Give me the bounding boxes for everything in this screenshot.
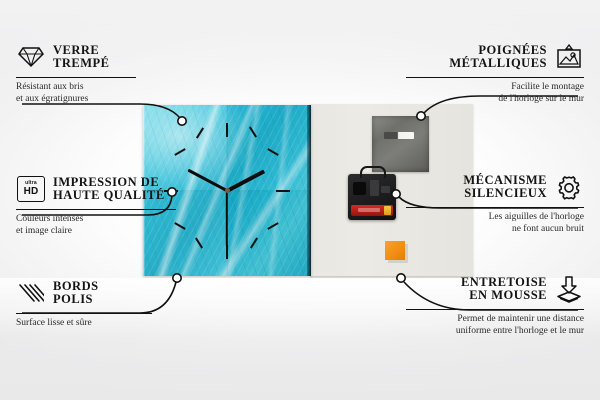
clock-tick	[276, 190, 290, 192]
feature-description: Facilite le montagede l'horloge sur le m…	[406, 82, 584, 105]
feature-description: Les aiguilles de l'horlogene font aucun …	[406, 212, 584, 235]
hands-center-cap	[225, 188, 230, 193]
feature-title: MÉCANISMESILENCIEUX	[463, 174, 547, 201]
clock-movement	[348, 174, 396, 220]
feature-divider	[406, 309, 584, 310]
arrow-stack-icon	[554, 275, 584, 303]
feature-description: Résistant aux briset aux égratignures	[16, 82, 194, 105]
feature-impression-haute-qualite: ultra HD IMPRESSION DEHAUTE QUALITÉ Coul…	[16, 172, 194, 237]
feature-header: ultra HD IMPRESSION DEHAUTE QUALITÉ	[16, 172, 194, 206]
feature-header: ENTRETOISEEN MOUSSE	[406, 272, 584, 306]
feature-header: BORDSPOLIS	[16, 276, 194, 310]
feature-title: POIGNÉESMÉTALLIQUES	[449, 44, 547, 71]
battery-label-band	[358, 208, 380, 212]
feature-title: IMPRESSION DEHAUTE QUALITÉ	[53, 176, 165, 203]
feature-description: Couleurs intenseset image claire	[16, 214, 194, 237]
hd-badge-big-label: HD	[24, 187, 39, 197]
feature-divider	[16, 313, 152, 314]
glass-right-edge-shadow	[307, 105, 311, 276]
clock-tick	[226, 245, 228, 259]
keyhole-slot	[384, 132, 414, 139]
feature-header: MÉCANISMESILENCIEUX	[406, 170, 584, 204]
feature-divider	[406, 207, 584, 208]
gear-icon	[554, 173, 584, 201]
feature-mecanisme-silencieux: MÉCANISMESILENCIEUX Les aiguilles de l'h…	[406, 170, 584, 235]
feature-header: POIGNÉESMÉTALLIQUES	[406, 40, 584, 74]
feature-title: VERRETREMPÉ	[53, 44, 109, 71]
feature-header: VERRETREMPÉ	[16, 40, 194, 74]
aa-battery	[351, 205, 393, 216]
foam-spacer	[385, 241, 405, 260]
ultra-hd-icon: ultra HD	[16, 175, 46, 203]
polished-edges-icon	[16, 279, 46, 307]
movement-detail	[370, 180, 379, 196]
hd-badge: ultra HD	[17, 176, 45, 202]
feature-divider	[16, 209, 176, 210]
movement-detail	[353, 182, 366, 195]
picture-frame-icon	[554, 43, 584, 71]
feature-title: ENTRETOISEEN MOUSSE	[461, 276, 547, 303]
feature-poignees-metalliques: POIGNÉESMÉTALLIQUES Facilite le montaged…	[406, 40, 584, 105]
movement-shaft	[360, 166, 386, 178]
product-infographic: VERRETREMPÉ Résistant aux briset aux égr…	[0, 0, 600, 400]
clock-tick	[226, 123, 228, 137]
feature-title: BORDSPOLIS	[53, 280, 99, 307]
second-hand	[226, 191, 228, 247]
diamond-icon	[16, 43, 46, 71]
feature-verre-trempe: VERRETREMPÉ Résistant aux briset aux égr…	[16, 40, 194, 105]
feature-entretoise-en-mousse: ENTRETOISEEN MOUSSE Permet de maintenir …	[406, 272, 584, 337]
metal-hanger-plate	[372, 116, 429, 172]
movement-detail	[381, 186, 390, 193]
feature-bords-polis: BORDSPOLIS Surface lisse et sûre	[16, 276, 194, 330]
feature-description: Permet de maintenir une distanceuniforme…	[406, 314, 584, 337]
feature-divider	[16, 77, 136, 78]
feature-divider	[406, 77, 584, 78]
feature-description: Surface lisse et sûre	[16, 318, 194, 330]
